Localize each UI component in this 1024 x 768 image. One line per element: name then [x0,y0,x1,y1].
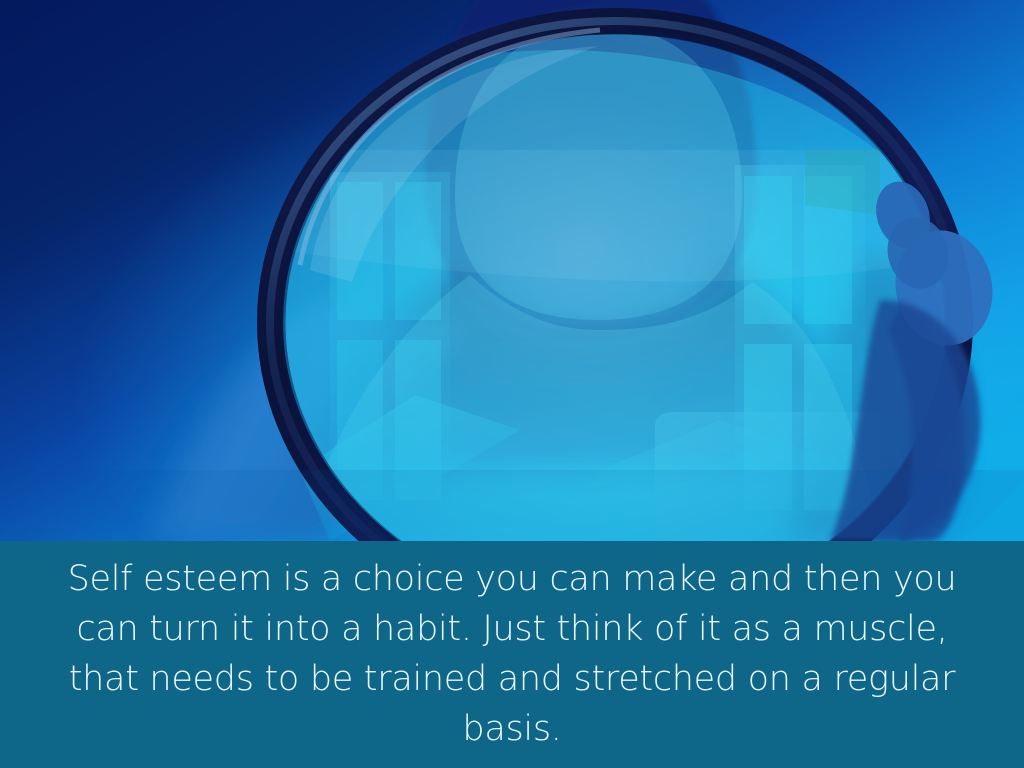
quote-text: Self esteem is a choice you can make and… [52,554,972,754]
caption-bar: Self esteem is a choice you can make and… [0,541,1024,768]
quote-slide: Self esteem is a choice you can make and… [0,0,1024,768]
background-photo [0,0,1024,541]
magnifying-glass-illustration [0,0,1024,541]
